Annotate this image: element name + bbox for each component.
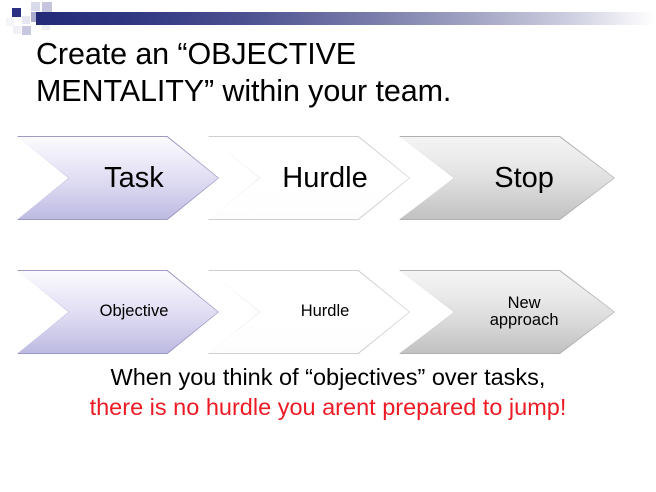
chevron-label: Objective <box>68 303 169 320</box>
chevron-task[interactable]: Task <box>18 137 218 219</box>
chevron-objective[interactable]: Objective <box>18 271 218 353</box>
page-title: Create an “OBJECTIVE MENTALITY” within y… <box>36 36 636 110</box>
mosaic-square <box>22 4 31 13</box>
chevron-stop[interactable]: Stop <box>400 137 614 219</box>
header-gradient-bar <box>36 12 656 25</box>
mosaic-square <box>42 2 52 12</box>
header-decoration <box>0 0 656 40</box>
chevron-row-top: TaskHurdleStop <box>0 137 656 219</box>
mosaic-square <box>22 16 30 24</box>
chevron-row-bottom: ObjectiveHurdleNew approach <box>0 271 656 353</box>
chevron-new-approach[interactable]: New approach <box>400 271 614 353</box>
mosaic-square <box>22 26 31 35</box>
bottom-text-block: When you think of “objectives” over task… <box>0 362 656 422</box>
bottom-text-line-1: When you think of “objectives” over task… <box>0 362 656 392</box>
mosaic-square <box>13 26 21 34</box>
mosaic-square <box>12 8 21 17</box>
chevron-hurdle[interactable]: Hurdle <box>209 271 409 353</box>
chevron-hurdle[interactable]: Hurdle <box>209 137 409 219</box>
chevron-label: Task <box>72 163 164 194</box>
chevron-label: New approach <box>455 295 558 330</box>
bottom-text-line-2: there is no hurdle you arent prepared to… <box>0 392 656 422</box>
mosaic-square <box>31 2 40 11</box>
mosaic-square <box>4 4 12 12</box>
chevron-label: Stop <box>460 163 554 194</box>
chevron-label: Hurdle <box>250 163 367 194</box>
mosaic-square <box>6 18 14 26</box>
chevron-label: Hurdle <box>269 303 350 320</box>
